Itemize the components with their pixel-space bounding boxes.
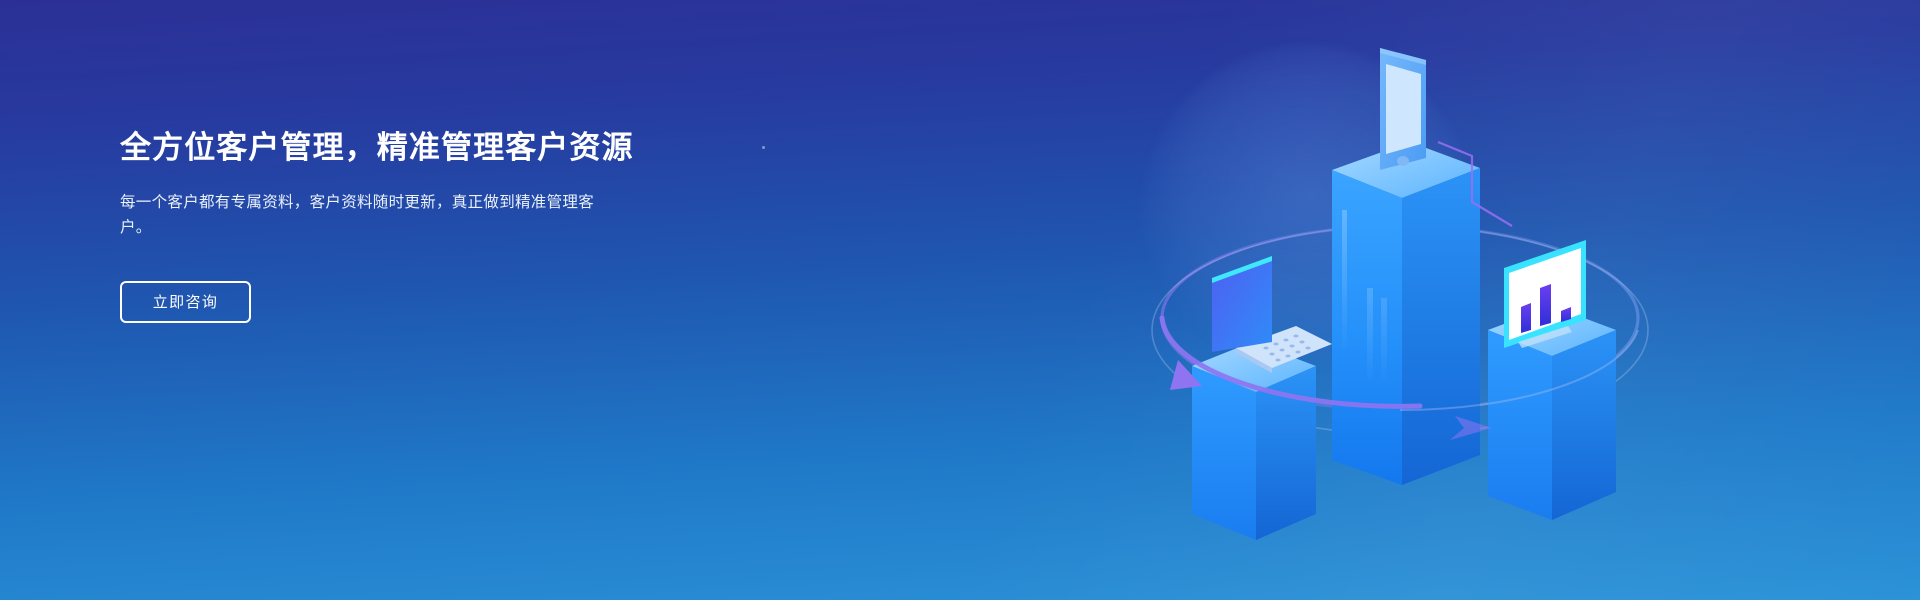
hero-copy: 全方位客户管理，精准管理客户资源 每一个客户都有专属资料，客户资料随时更新，真正… (120, 128, 760, 323)
hero-banner: 全方位客户管理，精准管理客户资源 每一个客户都有专属资料，客户资料随时更新，真正… (0, 0, 1920, 600)
consult-now-button[interactable]: 立即咨询 (120, 281, 251, 323)
page-title: 全方位客户管理，精准管理客户资源 (120, 128, 760, 168)
decorative-dot (762, 146, 765, 149)
tablet-device (1380, 48, 1426, 170)
hero-subtitle: 每一个客户都有专属资料，客户资料随时更新，真正做到精准管理客户。 (120, 190, 600, 240)
hero-illustration (1120, 30, 1680, 590)
